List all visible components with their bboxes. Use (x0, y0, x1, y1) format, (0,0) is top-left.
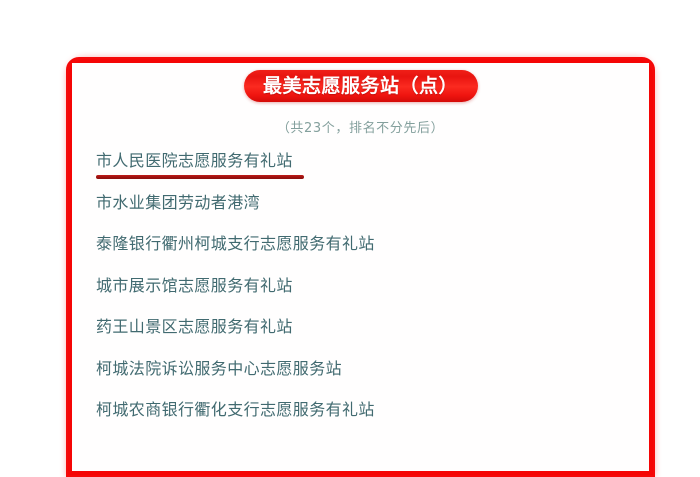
station-name: 城市展示馆志愿服务有礼站 (96, 276, 293, 296)
station-name: 药王山景区志愿服务有礼站 (96, 317, 293, 337)
highlight-underline (96, 175, 304, 179)
list-item[interactable]: 城市展示馆志愿服务有礼站 (96, 276, 633, 318)
station-name: 泰隆银行衢州柯城支行志愿服务有礼站 (96, 234, 375, 254)
list-item[interactable]: 市人民医院志愿服务有礼站 (96, 151, 633, 193)
station-name: 柯城农商银行衢化支行志愿服务有礼站 (96, 400, 375, 420)
page-title: 最美志愿服务站（点） (263, 77, 458, 96)
card-inner: 最美志愿服务站（点） （共23个，排名不分先后） 市人民医院志愿服务有礼站市水业… (72, 63, 649, 471)
list-item[interactable]: 泰隆银行衢州柯城支行志愿服务有礼站 (96, 234, 633, 276)
card-title-banner: 最美志愿服务站（点） (244, 70, 478, 102)
list-item[interactable]: 药王山景区志愿服务有礼站 (96, 317, 633, 359)
station-name: 市水业集团劳动者港湾 (96, 193, 260, 213)
list-item[interactable]: 市水业集团劳动者港湾 (96, 193, 633, 235)
station-name: 市人民医院志愿服务有礼站 (96, 151, 293, 171)
station-name: 柯城法院诉讼服务中心志愿服务站 (96, 359, 342, 379)
card-subtitle: （共23个，排名不分先后） (72, 117, 649, 136)
station-list-card: 最美志愿服务站（点） （共23个，排名不分先后） 市人民医院志愿服务有礼站市水业… (66, 57, 655, 477)
list-item[interactable]: 柯城法院诉讼服务中心志愿服务站 (96, 359, 633, 401)
station-list: 市人民医院志愿服务有礼站市水业集团劳动者港湾泰隆银行衢州柯城支行志愿服务有礼站城… (96, 151, 633, 442)
list-item[interactable]: 柯城农商银行衢化支行志愿服务有礼站 (96, 400, 633, 442)
